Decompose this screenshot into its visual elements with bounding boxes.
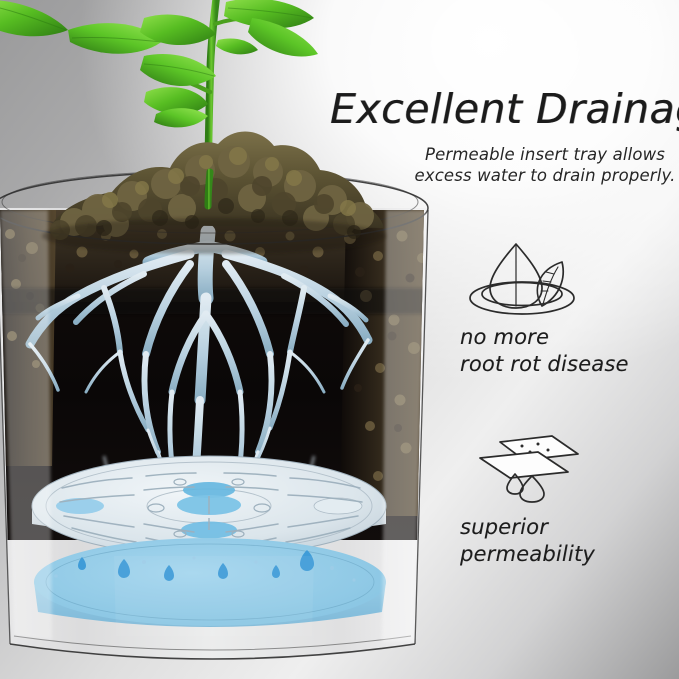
feature-permeability-line-2: permeability <box>460 541 677 568</box>
feature-permeability: superior permeability <box>452 424 677 567</box>
feature-permeability-line-1: superior <box>460 514 677 541</box>
feature-root-rot-text: no more root rot disease <box>460 324 677 377</box>
feature-permeability-text: superior permeability <box>460 514 677 567</box>
feature-root-rot-line-1: no more <box>460 324 677 351</box>
stacked-permeable-sheets-droplet-icon <box>452 424 677 506</box>
feature-root-rot: no more root rot disease <box>452 236 677 377</box>
page-subtitle-line-1: Permeable insert tray allows <box>414 145 676 166</box>
page-subtitle-line-2: excess water to drain properly. <box>414 166 676 187</box>
promo-banner: Excellent Drainage Permeable insert tray… <box>0 0 679 679</box>
page-subtitle: Permeable insert tray allows excess wate… <box>414 145 676 187</box>
feature-root-rot-line-2: root rot disease <box>460 351 677 378</box>
leaf-droplet-on-saucer-icon <box>452 236 677 318</box>
soil-mound <box>42 131 386 254</box>
page-title: Excellent Drainage <box>330 88 675 131</box>
